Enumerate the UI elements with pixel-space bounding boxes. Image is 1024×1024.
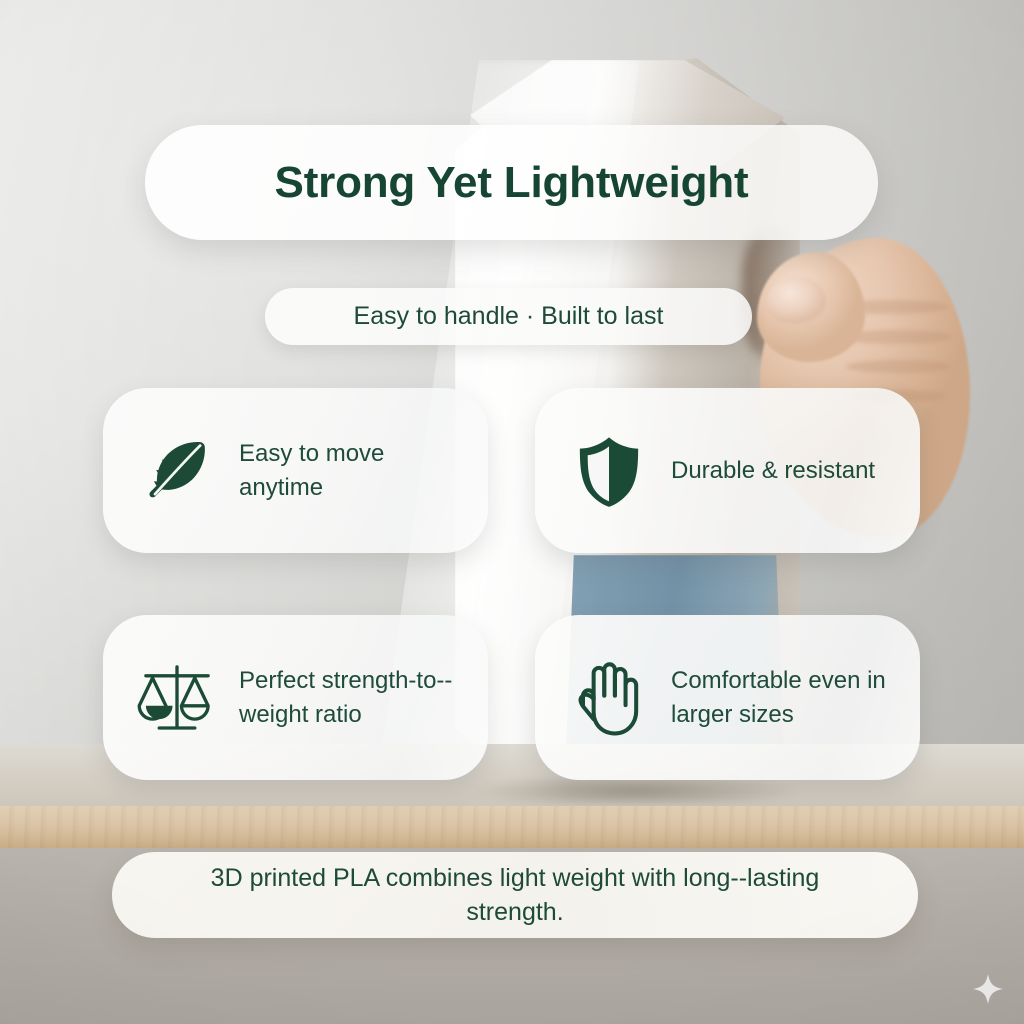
feature-card-strength-to-weight[interactable]: Perfect strength-to--weight ratio — [103, 615, 488, 780]
wood-grain-texture — [0, 806, 1024, 850]
open-hand-icon — [569, 658, 649, 738]
feature-label: Comfortable even in larger sizes — [671, 664, 894, 730]
thumb-nail — [766, 276, 826, 324]
feather-icon — [137, 431, 217, 511]
feature-card-comfortable[interactable]: Comfortable even in larger sizes — [535, 615, 920, 780]
feature-label: Durable & resistant — [671, 454, 875, 487]
feature-label: Easy to move anytime — [239, 437, 462, 503]
feature-card-durable[interactable]: Durable & resistant — [535, 388, 920, 553]
caption-text: 3D printed PLA combines light weight wit… — [112, 861, 918, 929]
caption-pill: 3D printed PLA combines light weight wit… — [112, 852, 918, 938]
sparkle-icon — [971, 972, 1005, 1006]
feature-card-easy-to-move[interactable]: Easy to move anytime — [103, 388, 488, 553]
product-feature-poster: Strong Yet Lightweight Easy to handle · … — [0, 0, 1024, 1024]
page-subtitle: Easy to handle · Built to last — [354, 302, 664, 331]
title-pill: Strong Yet Lightweight — [145, 125, 878, 240]
subtitle-pill: Easy to handle · Built to last — [265, 288, 752, 345]
feature-label: Perfect strength-to--weight ratio — [239, 664, 462, 730]
hand-crease — [846, 360, 950, 373]
object-contact-shadow — [470, 778, 800, 804]
balance-scale-icon — [137, 658, 217, 738]
shield-icon — [569, 431, 649, 511]
page-title: Strong Yet Lightweight — [275, 158, 749, 208]
